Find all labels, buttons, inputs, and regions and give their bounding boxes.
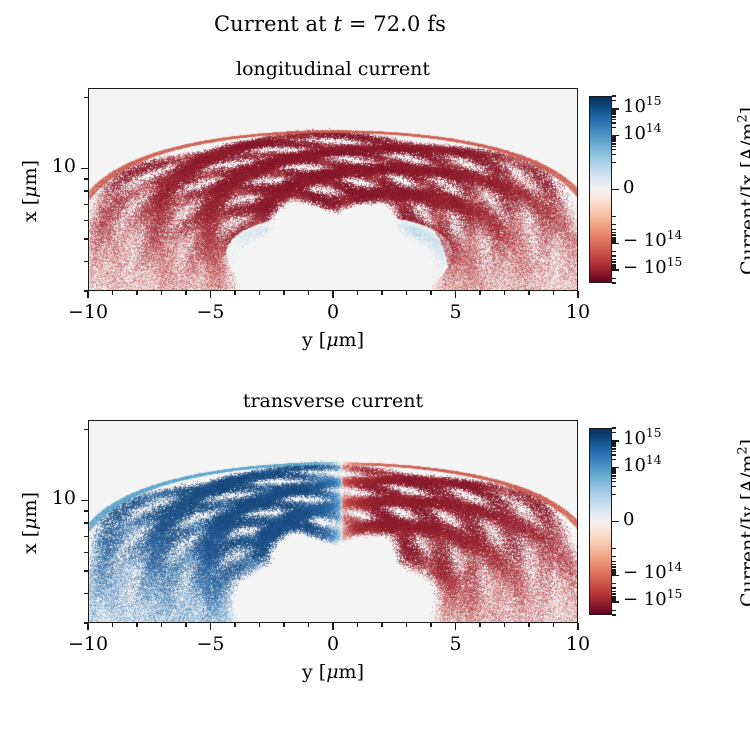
xlabel-text-0: y [ (302, 329, 326, 351)
yaxis-minor-tick (84, 97, 88, 98)
colorbar-minor-tick (612, 564, 616, 565)
xaxis-major-tick (332, 623, 333, 630)
plot-area-longitudinal[interactable] (88, 88, 578, 291)
colorbar-minor-tick (612, 443, 616, 444)
suptitle-prefix: Current at (214, 12, 333, 36)
cbar-label-text-0: Current/Jx [A/m (737, 123, 750, 275)
xaxis-major-tick (210, 623, 211, 630)
colorbar-minor-tick (612, 278, 616, 279)
colorbar-minor-tick (612, 143, 616, 144)
xaxis-minor-tick (308, 291, 309, 295)
xaxis-minor-tick (185, 623, 186, 627)
colorbar-major-tick (612, 521, 619, 522)
colorbar-minor-tick (612, 459, 616, 460)
yaxis-minor-tick (84, 429, 88, 430)
colorbar-ticklabel: 1015 (623, 428, 661, 449)
xaxis-ticklabel: −5 (171, 633, 251, 655)
xaxis-minor-tick (553, 291, 554, 295)
colorbar-major-tick (612, 189, 619, 190)
suptitle-suffix: = 72.0 fs (342, 12, 446, 36)
colorbar-major-tick (612, 243, 619, 244)
colorbar-minor-tick (612, 119, 616, 120)
yaxis-minor-tick (84, 536, 88, 537)
cbar-label-exp-1: 2 (736, 446, 750, 454)
colorbar-minor-tick (612, 138, 616, 139)
colorbar-minor-tick (612, 154, 616, 155)
colorbar-minor-tick (612, 587, 616, 588)
colorbar-ticklabel: 1014 (623, 455, 661, 476)
yaxis-minor-tick (84, 178, 88, 179)
colorbar-minor-tick (612, 259, 616, 260)
yaxis-major-tick (81, 500, 88, 501)
xaxis-label-transverse: y [μm] (88, 661, 578, 683)
colorbar-minor-tick (612, 251, 616, 252)
yaxis-minor-tick (84, 190, 88, 191)
xaxis-minor-tick (259, 623, 260, 627)
yaxis-minor-tick (84, 220, 88, 221)
colorbar-major-tick (612, 108, 619, 109)
xaxis-ticklabel: 10 (538, 301, 618, 323)
xaxis-minor-tick (430, 623, 431, 627)
xaxis-ticklabel: −5 (171, 301, 251, 323)
panel-title-longitudinal: longitudinal current (88, 58, 578, 80)
yaxis-minor-tick (84, 622, 88, 623)
colorbar-ticklabel: 0 (623, 177, 634, 198)
yaxis-ticklabel: 10 (36, 155, 76, 177)
colorbar-minor-tick (612, 481, 616, 482)
colorbar-minor-tick (612, 116, 616, 117)
yaxis-minor-tick (84, 552, 88, 553)
xaxis-ticklabel: 0 (293, 301, 373, 323)
xaxis-minor-tick (357, 623, 358, 627)
colorbar-minor-tick (612, 229, 616, 230)
colorbar-major-tick (612, 467, 619, 468)
xaxis-minor-tick (504, 623, 505, 627)
colorbar-ticklabel: − 1014 (623, 230, 682, 251)
xaxis-minor-tick (136, 291, 137, 295)
xaxis-minor-tick (234, 291, 235, 295)
colorbar-major-tick (612, 135, 619, 136)
colorbar-minor-tick (612, 475, 616, 476)
figure-canvas: Current at t = 72.0 fs longitudinal curr… (0, 0, 750, 750)
xaxis-major-tick (577, 623, 578, 630)
colorbar-minor-tick (612, 486, 616, 487)
cbar-label-suffix-0: ] (737, 107, 750, 114)
xaxis-minor-tick (308, 623, 309, 627)
colorbar-minor-tick (612, 112, 616, 113)
cbar-label-suffix-1: ] (737, 439, 750, 446)
colorbar-ticklabel: − 1014 (623, 562, 682, 583)
yaxis-major-tick (81, 168, 88, 169)
colorbar-minor-tick (612, 610, 616, 611)
cbar-label-exp-0: 2 (736, 114, 750, 122)
xaxis-minor-tick (406, 291, 407, 295)
xaxis-major-tick (455, 291, 456, 298)
colorbar-major-tick (612, 601, 619, 602)
scatter-layer-longitudinal (89, 89, 578, 291)
xaxis-minor-tick (553, 623, 554, 627)
yaxis-minor-tick (84, 238, 88, 239)
xaxis-minor-tick (479, 291, 480, 295)
colorbar-label-transverse: Current/Jy [A/m2] (737, 408, 750, 638)
yaxis-label-transverse: x [μm] (19, 473, 41, 573)
figure-suptitle: Current at t = 72.0 fs (0, 12, 660, 36)
xaxis-major-tick (577, 291, 578, 298)
colorbar-minor-tick (612, 149, 616, 150)
colorbar-minor-tick (612, 95, 616, 96)
xaxis-minor-tick (161, 291, 162, 295)
xaxis-minor-tick (381, 623, 382, 627)
colorbar-minor-tick (612, 111, 616, 112)
colorbar-minor-tick (612, 141, 616, 142)
colorbar-minor-tick (612, 427, 616, 428)
xaxis-ticklabel: 5 (416, 633, 496, 655)
colorbar-minor-tick (612, 451, 616, 452)
colorbar-minor-tick (612, 556, 616, 557)
colorbar-minor-tick (612, 216, 616, 217)
colorbar-ticklabel: − 1015 (623, 257, 682, 278)
yaxis-label-longitudinal: x [μm] (19, 141, 41, 241)
xaxis-label-longitudinal: y [μm] (88, 329, 578, 351)
colorbar-major-tick (612, 269, 619, 270)
xaxis-minor-tick (112, 623, 113, 627)
yaxis-minor-tick (84, 522, 88, 523)
colorbar-minor-tick (612, 441, 616, 442)
plot-area-transverse[interactable] (88, 420, 578, 623)
xaxis-minor-tick (528, 291, 529, 295)
xaxis-minor-tick (161, 623, 162, 627)
colorbar-minor-tick (612, 122, 616, 123)
colorbar-ticklabel: 1014 (623, 123, 661, 144)
scatter-layer-transverse (89, 421, 578, 623)
xaxis-minor-tick (136, 623, 137, 627)
colorbar-ticklabel: 0 (623, 509, 634, 530)
xaxis-major-tick (210, 291, 211, 298)
colorbar-minor-tick (612, 146, 616, 147)
colorbar-minor-tick (612, 468, 616, 469)
colorbar-minor-tick (612, 591, 616, 592)
colorbar-major-tick (612, 575, 619, 576)
colorbar-minor-tick (612, 139, 616, 140)
colorbar-ticklabel: 1015 (623, 96, 661, 117)
colorbar-transverse[interactable] (589, 428, 612, 615)
yaxis-minor-tick (84, 570, 88, 571)
xaxis-minor-tick (504, 291, 505, 295)
yaxis-minor-tick (84, 510, 88, 511)
colorbar-minor-tick (612, 494, 616, 495)
xaxis-major-tick (87, 623, 88, 630)
colorbar-ticklabel: − 1015 (623, 589, 682, 610)
colorbar-minor-tick (612, 471, 616, 472)
colorbar-minor-tick (612, 136, 616, 137)
panel-title-transverse: transverse current (88, 390, 578, 412)
colorbar-minor-tick (612, 432, 616, 433)
xaxis-minor-tick (283, 291, 284, 295)
colorbar-minor-tick (612, 224, 616, 225)
colorbar-label-longitudinal: Current/Jx [A/m2] (737, 76, 750, 306)
xaxis-major-tick (332, 291, 333, 298)
xaxis-ticklabel: 10 (538, 633, 618, 655)
colorbar-major-tick (612, 440, 619, 441)
xaxis-minor-tick (283, 623, 284, 627)
xaxis-minor-tick (234, 623, 235, 627)
colorbar-minor-tick (612, 454, 616, 455)
xaxis-minor-tick (406, 623, 407, 627)
xaxis-minor-tick (528, 623, 529, 627)
colorbar-minor-tick (612, 614, 616, 615)
colorbar-minor-tick (612, 446, 616, 447)
colorbar-minor-tick (612, 470, 616, 471)
yaxis-minor-tick (84, 290, 88, 291)
colorbar-minor-tick (612, 478, 616, 479)
colorbar-minor-tick (612, 232, 616, 233)
xaxis-minor-tick (430, 291, 431, 295)
colorbar-longitudinal[interactable] (589, 96, 612, 283)
colorbar-minor-tick (612, 282, 616, 283)
colorbar-minor-tick (612, 162, 616, 163)
colorbar-minor-tick (612, 114, 616, 115)
xaxis-minor-tick (112, 291, 113, 295)
xaxis-minor-tick (479, 623, 480, 627)
colorbar-minor-tick (612, 109, 616, 110)
colorbar-minor-tick (612, 548, 616, 549)
colorbar-minor-tick (612, 473, 616, 474)
xaxis-minor-tick (259, 291, 260, 295)
xaxis-minor-tick (381, 291, 382, 295)
colorbar-minor-tick (612, 583, 616, 584)
yaxis-minor-tick (84, 593, 88, 594)
colorbar-minor-tick (612, 444, 616, 445)
suptitle-variable: t (334, 12, 343, 36)
yaxis-minor-tick (84, 204, 88, 205)
yaxis-ticklabel: 10 (36, 487, 76, 509)
cbar-label-text-1: Current/Jy [A/m (737, 455, 750, 607)
colorbar-minor-tick (612, 561, 616, 562)
xaxis-major-tick (455, 623, 456, 630)
xaxis-major-tick (87, 291, 88, 298)
colorbar-minor-tick (612, 448, 616, 449)
yaxis-minor-tick (84, 261, 88, 262)
colorbar-minor-tick (612, 127, 616, 128)
xaxis-ticklabel: 5 (416, 301, 496, 323)
colorbar-minor-tick (612, 255, 616, 256)
xaxis-minor-tick (185, 291, 186, 295)
xaxis-ticklabel: −10 (48, 301, 128, 323)
xaxis-ticklabel: 0 (293, 633, 373, 655)
xaxis-minor-tick (357, 291, 358, 295)
xaxis-ticklabel: −10 (48, 633, 128, 655)
colorbar-minor-tick (612, 100, 616, 101)
